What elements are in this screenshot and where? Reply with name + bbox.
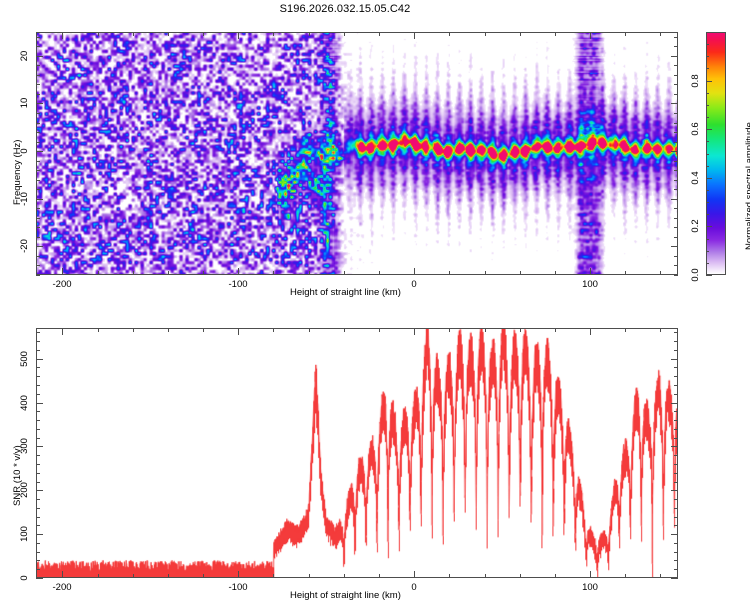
minor-tick (674, 525, 678, 526)
y-tick-label: -20 (19, 239, 30, 253)
colorbar-minor-tick (706, 154, 709, 155)
minor-tick (98, 32, 99, 36)
minor-tick (36, 275, 40, 276)
minor-tick (674, 367, 678, 368)
minor-tick (36, 499, 40, 500)
x-tick-label: -100 (228, 279, 247, 290)
minor-tick (449, 574, 450, 578)
minor-tick (168, 32, 169, 36)
y-tick-label: 0 (19, 148, 30, 153)
major-tick (671, 103, 678, 104)
minor-tick (674, 350, 678, 351)
minor-tick (674, 560, 678, 561)
minor-tick (344, 32, 345, 36)
minor-tick (36, 552, 40, 553)
colorbar-label: Normalized spectral amplitude (744, 122, 750, 250)
minor-tick (98, 574, 99, 578)
major-tick (36, 199, 43, 200)
minor-tick (674, 332, 678, 333)
minor-tick (379, 32, 380, 36)
colorbar-minor-tick (706, 202, 709, 203)
minor-tick (674, 142, 678, 143)
x-tick-label: -200 (52, 279, 71, 290)
minor-tick (36, 473, 40, 474)
minor-tick (273, 328, 274, 332)
colorbar-minor-tick (706, 44, 709, 45)
x-tick-label: 0 (411, 582, 416, 593)
minor-tick (660, 271, 661, 275)
minor-tick (674, 237, 678, 238)
minor-tick (674, 161, 678, 162)
minor-tick (309, 574, 310, 578)
major-tick (671, 199, 678, 200)
minor-tick (625, 271, 626, 275)
minor-tick (203, 328, 204, 332)
colorbar-minor-tick (706, 263, 709, 264)
major-tick (671, 56, 678, 57)
minor-tick (674, 499, 678, 500)
minor-tick (36, 180, 40, 181)
y-tick-label: 20 (19, 51, 30, 62)
minor-tick (674, 473, 678, 474)
minor-tick (36, 65, 40, 66)
colorbar-panel: 0.00.20.40.60.8 Normalized spectral ampl… (690, 0, 750, 310)
major-tick (62, 571, 63, 578)
colorbar-minor-tick (706, 93, 709, 94)
minor-tick (379, 328, 380, 332)
minor-tick (674, 482, 678, 483)
major-tick (36, 246, 43, 247)
minor-tick (674, 275, 678, 276)
x-tick-label: -100 (228, 582, 247, 593)
spectrogram-plot-area[interactable] (36, 32, 678, 275)
minor-tick (133, 32, 134, 36)
major-tick (671, 359, 678, 360)
colorbar-tick-label: 0.2 (690, 219, 701, 232)
minor-tick (36, 517, 40, 518)
minor-tick (674, 123, 678, 124)
major-tick (671, 490, 678, 491)
minor-tick (485, 574, 486, 578)
minor-tick (36, 464, 40, 465)
minor-tick (36, 265, 40, 266)
snr-trace (37, 329, 677, 577)
minor-tick (344, 574, 345, 578)
minor-tick (36, 84, 40, 85)
x-tick-label: 0 (411, 279, 416, 290)
minor-tick (98, 328, 99, 332)
major-tick (414, 268, 415, 275)
minor-tick (36, 376, 40, 377)
major-tick (590, 268, 591, 275)
major-tick (590, 32, 591, 39)
minor-tick (449, 271, 450, 275)
minor-tick (485, 271, 486, 275)
minor-tick (674, 341, 678, 342)
major-tick (671, 151, 678, 152)
minor-tick (625, 574, 626, 578)
minor-tick (36, 543, 40, 544)
minor-tick (273, 271, 274, 275)
minor-tick (36, 218, 40, 219)
minor-tick (309, 271, 310, 275)
minor-tick (555, 271, 556, 275)
colorbar-minor-tick (706, 251, 709, 252)
minor-tick (520, 271, 521, 275)
major-tick (671, 578, 678, 579)
minor-tick (36, 341, 40, 342)
minor-tick (449, 32, 450, 36)
colorbar-tick-label: 0.4 (690, 171, 701, 184)
colorbar-minor-tick (706, 214, 709, 215)
colorbar-minor-tick (706, 239, 709, 240)
minor-tick (555, 328, 556, 332)
y-tick-label: 500 (19, 351, 30, 367)
minor-tick (379, 574, 380, 578)
minor-tick (36, 142, 40, 143)
colorbar-major-tick (706, 129, 712, 130)
minor-tick (674, 113, 678, 114)
minor-tick (36, 411, 40, 412)
minor-tick (674, 438, 678, 439)
minor-tick (36, 385, 40, 386)
major-tick (36, 534, 43, 535)
minor-tick (625, 328, 626, 332)
colorbar-tick-label: 0.6 (690, 122, 701, 135)
x-tick-label: 100 (582, 279, 598, 290)
minor-tick (674, 37, 678, 38)
colorbar-major-tick (706, 275, 712, 276)
minor-tick (674, 132, 678, 133)
major-tick (36, 446, 43, 447)
y-tick-label: 400 (19, 395, 30, 411)
minor-tick (555, 574, 556, 578)
minor-tick (674, 65, 678, 66)
major-tick (36, 151, 43, 152)
minor-tick (36, 420, 40, 421)
minor-tick (674, 170, 678, 171)
colorbar-gradient (706, 32, 726, 275)
minor-tick (203, 574, 204, 578)
major-tick (590, 571, 591, 578)
x-tick-label: -200 (52, 582, 71, 593)
minor-tick (674, 517, 678, 518)
minor-tick (674, 180, 678, 181)
minor-tick (674, 429, 678, 430)
minor-tick (674, 218, 678, 219)
colorbar-minor-tick (706, 141, 709, 142)
minor-tick (168, 574, 169, 578)
major-tick (238, 32, 239, 39)
major-tick (414, 328, 415, 335)
minor-tick (36, 429, 40, 430)
minor-tick (36, 332, 40, 333)
minor-tick (36, 350, 40, 351)
figure-root: S196.2026.032.15.05.C42 Frequency (Hz) H… (0, 0, 750, 600)
major-tick (671, 246, 678, 247)
major-tick (671, 446, 678, 447)
major-tick (238, 571, 239, 578)
major-tick (36, 578, 43, 579)
minor-tick (674, 552, 678, 553)
colorbar-minor-tick (706, 190, 709, 191)
minor-tick (674, 394, 678, 395)
major-tick (671, 403, 678, 404)
colorbar-minor-tick (706, 105, 709, 106)
minor-tick (36, 394, 40, 395)
minor-tick (674, 420, 678, 421)
minor-tick (309, 32, 310, 36)
minor-tick (660, 32, 661, 36)
minor-tick (674, 46, 678, 47)
minor-tick (36, 113, 40, 114)
minor-tick (485, 328, 486, 332)
minor-tick (168, 271, 169, 275)
snr-plot-area[interactable] (36, 328, 678, 578)
minor-tick (36, 367, 40, 368)
minor-tick (36, 123, 40, 124)
minor-tick (660, 574, 661, 578)
minor-tick (36, 46, 40, 47)
minor-tick (36, 237, 40, 238)
minor-tick (344, 271, 345, 275)
minor-tick (520, 574, 521, 578)
colorbar-minor-tick (706, 68, 709, 69)
minor-tick (674, 94, 678, 95)
major-tick (62, 32, 63, 39)
minor-tick (36, 208, 40, 209)
minor-tick (36, 132, 40, 133)
minor-tick (36, 189, 40, 190)
minor-tick (36, 569, 40, 570)
minor-tick (133, 328, 134, 332)
minor-tick (674, 543, 678, 544)
minor-tick (168, 328, 169, 332)
minor-tick (660, 328, 661, 332)
major-tick (414, 571, 415, 578)
minor-tick (674, 411, 678, 412)
minor-tick (36, 94, 40, 95)
colorbar-tick-label: 0.0 (690, 268, 701, 281)
major-tick (36, 103, 43, 104)
minor-tick (625, 32, 626, 36)
minor-tick (449, 328, 450, 332)
minor-tick (36, 170, 40, 171)
spectrogram-image (37, 33, 677, 274)
minor-tick (674, 508, 678, 509)
minor-tick (674, 455, 678, 456)
minor-tick (36, 438, 40, 439)
minor-tick (36, 161, 40, 162)
colorbar-minor-tick (706, 166, 709, 167)
major-tick (590, 328, 591, 335)
minor-tick (273, 574, 274, 578)
colorbar-minor-tick (706, 32, 709, 33)
y-tick-label: 10 (19, 98, 30, 109)
minor-tick (674, 464, 678, 465)
colorbar-minor-tick (706, 56, 709, 57)
y-tick-label: 200 (19, 482, 30, 498)
minor-tick (36, 455, 40, 456)
minor-tick (520, 328, 521, 332)
y-tick-label: 100 (19, 526, 30, 542)
colorbar-major-tick (706, 81, 712, 82)
colorbar-tick-label: 0.8 (690, 74, 701, 87)
minor-tick (273, 32, 274, 36)
minor-tick (98, 271, 99, 275)
minor-tick (36, 75, 40, 76)
y-tick-label: -10 (19, 192, 30, 206)
minor-tick (674, 265, 678, 266)
minor-tick (674, 189, 678, 190)
x-tick-label: 100 (582, 582, 598, 593)
minor-tick (203, 271, 204, 275)
major-tick (238, 268, 239, 275)
minor-tick (133, 271, 134, 275)
minor-tick (520, 32, 521, 36)
minor-tick (36, 508, 40, 509)
minor-tick (36, 37, 40, 38)
colorbar-minor-tick (706, 117, 709, 118)
major-tick (414, 32, 415, 39)
spectrogram-panel: Frequency (Hz) Height of straight line (… (0, 0, 750, 310)
minor-tick (485, 32, 486, 36)
minor-tick (344, 328, 345, 332)
minor-tick (674, 385, 678, 386)
major-tick (36, 56, 43, 57)
major-tick (36, 490, 43, 491)
major-tick (671, 534, 678, 535)
minor-tick (674, 227, 678, 228)
minor-tick (309, 328, 310, 332)
y-tick-label: 300 (19, 438, 30, 454)
minor-tick (36, 525, 40, 526)
major-tick (62, 268, 63, 275)
minor-tick (36, 482, 40, 483)
major-tick (62, 328, 63, 335)
major-tick (36, 359, 43, 360)
minor-tick (674, 376, 678, 377)
minor-tick (36, 227, 40, 228)
spectrogram-x-axis-label: Height of straight line (km) (290, 287, 401, 298)
minor-tick (36, 560, 40, 561)
major-tick (36, 403, 43, 404)
minor-tick (674, 75, 678, 76)
snr-panel: SNR (10 * v/v) Height of straight line (… (0, 310, 750, 600)
minor-tick (133, 574, 134, 578)
minor-tick (674, 569, 678, 570)
major-tick (238, 328, 239, 335)
minor-tick (674, 256, 678, 257)
minor-tick (203, 32, 204, 36)
minor-tick (36, 256, 40, 257)
colorbar-major-tick (706, 178, 712, 179)
minor-tick (674, 208, 678, 209)
colorbar-major-tick (706, 226, 712, 227)
minor-tick (555, 32, 556, 36)
y-tick-label: 0 (19, 575, 30, 580)
minor-tick (379, 271, 380, 275)
snr-x-axis-label: Height of straight line (km) (290, 590, 401, 601)
minor-tick (674, 84, 678, 85)
